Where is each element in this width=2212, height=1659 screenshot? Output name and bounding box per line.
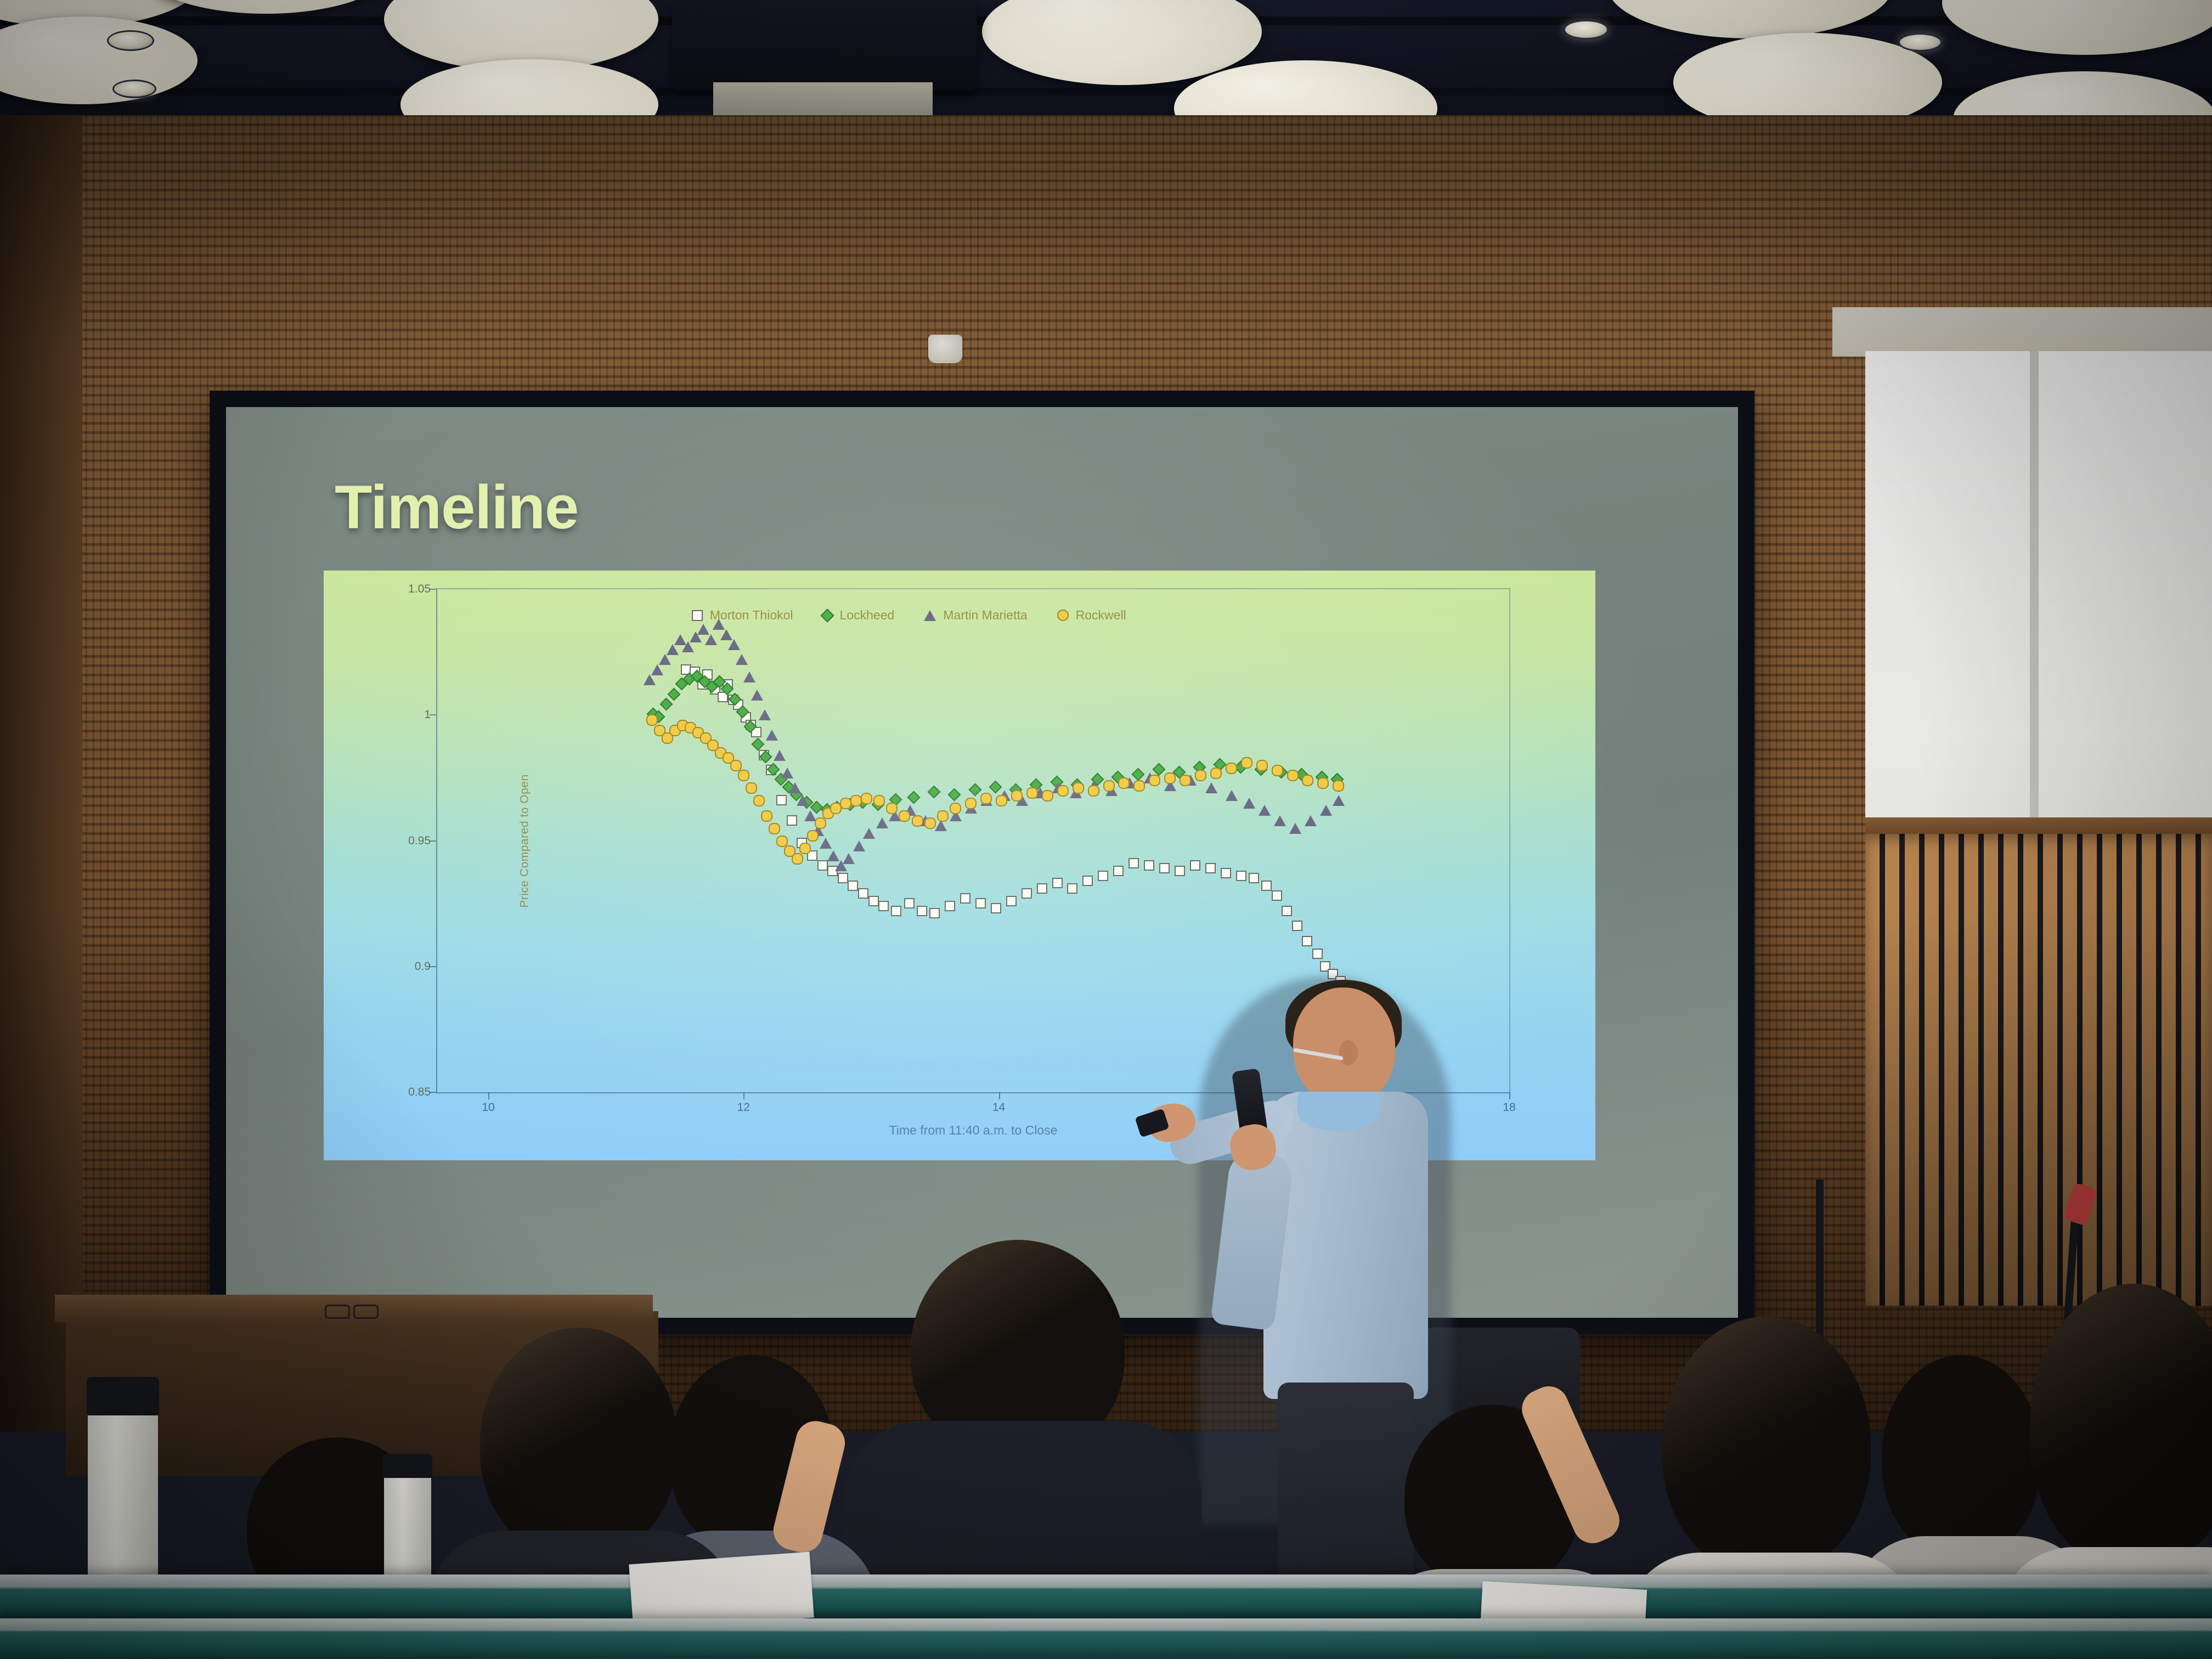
square-marker-icon — [692, 610, 703, 621]
data-point-martin-marietta — [728, 639, 740, 650]
data-point-lockheed — [907, 791, 920, 804]
data-point-morton-thiokol — [1006, 896, 1017, 906]
data-point-martin-marietta — [1333, 795, 1345, 806]
data-point-rockwell — [738, 770, 749, 781]
data-point-martin-marietta — [1226, 790, 1238, 801]
diamond-marker-icon — [821, 608, 834, 622]
data-point-martin-marietta — [1243, 798, 1255, 809]
audience-member — [878, 1240, 1163, 1547]
data-point-morton-thiokol — [1159, 863, 1170, 873]
circle-marker-icon — [1057, 610, 1069, 621]
data-point-rockwell — [769, 823, 780, 834]
data-point-rockwell — [776, 836, 788, 847]
data-point-morton-thiokol — [1302, 936, 1312, 946]
data-point-martin-marietta — [781, 768, 793, 778]
data-point-rockwell — [937, 810, 949, 822]
data-point-martin-marietta — [1274, 815, 1286, 826]
data-point-lockheed — [968, 783, 981, 796]
data-point-lockheed — [928, 786, 941, 799]
data-point-martin-marietta — [720, 629, 732, 640]
data-point-martin-marietta — [736, 654, 748, 665]
data-point-morton-thiokol — [1292, 921, 1302, 931]
data-point-martin-marietta — [804, 810, 816, 821]
data-point-martin-marietta — [789, 782, 801, 793]
data-point-martin-marietta — [743, 672, 755, 682]
data-point-morton-thiokol — [917, 906, 927, 916]
data-point-morton-thiokol — [868, 896, 879, 906]
data-point-rockwell — [1042, 790, 1053, 802]
data-point-martin-marietta — [667, 644, 679, 655]
x-axis-tick-label: 12 — [737, 1101, 750, 1114]
data-point-martin-marietta — [766, 730, 778, 741]
data-point-morton-thiokol — [848, 881, 858, 891]
presentation-slide: Timeline Morton ThiokolLockheedMartin Ma… — [226, 407, 1738, 1318]
data-point-lockheed — [659, 697, 673, 710]
data-point-morton-thiokol — [858, 888, 868, 899]
ceiling-disc — [1942, 0, 2212, 55]
x-axis-tick-mark — [488, 1092, 489, 1099]
x-axis-tick-mark — [999, 1092, 1000, 1099]
data-point-morton-thiokol — [1175, 866, 1185, 876]
y-axis-label: Price Compared to Open — [518, 774, 532, 907]
data-point-morton-thiokol — [975, 898, 986, 909]
data-point-morton-thiokol — [787, 815, 797, 826]
data-point-lockheed — [752, 738, 765, 751]
data-point-rockwell — [746, 782, 757, 794]
legend-item-rockwell: Rockwell — [1057, 608, 1126, 623]
data-point-morton-thiokol — [991, 903, 1001, 913]
data-point-morton-thiokol — [838, 873, 848, 883]
x-axis-tick-mark — [1509, 1092, 1510, 1099]
slide-title: Timeline — [335, 472, 578, 543]
data-point-martin-marietta — [1305, 815, 1317, 826]
data-point-morton-thiokol — [878, 901, 889, 911]
ceiling-disc — [1953, 71, 2212, 118]
triangle-marker-icon — [924, 610, 936, 621]
data-point-morton-thiokol — [1082, 876, 1093, 886]
data-point-martin-marietta — [1289, 823, 1301, 834]
data-point-martin-marietta — [697, 624, 709, 635]
chart-legend: Morton ThiokolLockheedMartin MariettaRoc… — [692, 608, 1126, 623]
data-point-rockwell — [1317, 777, 1329, 789]
data-point-rockwell — [1088, 785, 1099, 797]
data-point-rockwell — [815, 817, 826, 829]
presenter-collar — [1297, 1092, 1380, 1131]
data-point-rockwell — [1287, 770, 1299, 781]
eyeglasses-icon — [325, 1305, 379, 1317]
data-point-rockwell — [799, 843, 811, 854]
downlight-icon — [107, 30, 154, 51]
water-bottle-cap — [383, 1454, 432, 1478]
y-axis-tick-mark — [430, 966, 436, 967]
data-point-lockheed — [948, 788, 961, 801]
data-point-martin-marietta — [827, 850, 839, 861]
data-point-rockwell — [965, 798, 977, 809]
data-point-morton-thiokol — [1022, 888, 1032, 899]
wood-slat-panel — [1865, 834, 2212, 1306]
data-point-morton-thiokol — [960, 893, 970, 904]
data-point-martin-marietta — [1320, 805, 1332, 816]
desk-row-front — [0, 1618, 2212, 1659]
data-point-rockwell — [807, 830, 819, 842]
data-point-rockwell — [950, 803, 961, 814]
data-point-martin-marietta — [705, 634, 717, 645]
data-point-morton-thiokol — [1190, 860, 1200, 871]
data-point-martin-marietta — [935, 820, 947, 831]
data-point-martin-marietta — [774, 750, 786, 761]
data-point-martin-marietta — [759, 709, 771, 720]
ceiling-disc — [1607, 0, 1893, 38]
y-axis-tick-label: 0.9 — [415, 960, 431, 973]
data-point-lockheed — [667, 687, 680, 701]
data-point-morton-thiokol — [929, 908, 940, 918]
data-point-martin-marietta — [659, 654, 671, 665]
data-point-morton-thiokol — [1249, 873, 1259, 883]
data-point-rockwell — [730, 760, 742, 771]
data-point-rockwell — [753, 795, 765, 806]
x-axis-tick-label: 14 — [992, 1101, 1005, 1114]
data-point-martin-marietta — [820, 838, 832, 849]
water-bottle-cap — [87, 1377, 159, 1415]
data-point-martin-marietta — [682, 641, 694, 652]
projection-screen: Timeline Morton ThiokolLockheedMartin Ma… — [226, 407, 1738, 1318]
data-point-rockwell — [1057, 785, 1069, 797]
data-point-rockwell — [861, 793, 872, 804]
ceiling-projector — [672, 0, 977, 91]
data-point-martin-marietta — [876, 817, 888, 828]
data-point-rockwell — [1133, 780, 1145, 792]
data-point-rockwell — [1026, 787, 1038, 799]
downlight-icon — [1564, 20, 1609, 39]
y-axis-tick-mark — [430, 1092, 436, 1093]
hair-highlight — [480, 1328, 678, 1558]
x-axis-label: Time from 11:40 a.m. to Close — [889, 1123, 1058, 1138]
legend-item-martin-marietta: Martin Marietta — [924, 608, 1027, 623]
data-point-morton-thiokol — [1282, 906, 1292, 916]
data-point-morton-thiokol — [1052, 878, 1063, 888]
data-point-martin-marietta — [853, 840, 865, 851]
data-point-rockwell — [1149, 775, 1160, 786]
data-point-martin-marietta — [1205, 782, 1217, 793]
data-point-rockwell — [1180, 775, 1191, 786]
data-point-morton-thiokol — [1113, 866, 1124, 876]
data-point-morton-thiokol — [1205, 863, 1216, 873]
lecture-hall-photo: Timeline Morton ThiokolLockheedMartin Ma… — [0, 0, 2212, 1659]
data-point-rockwell — [1011, 790, 1023, 802]
hair-highlight — [2030, 1284, 2212, 1569]
legend-item-lockheed: Lockheed — [823, 608, 895, 623]
data-point-martin-marietta — [863, 828, 875, 839]
data-point-morton-thiokol — [891, 906, 901, 916]
data-point-rockwell — [886, 803, 898, 814]
data-point-martin-marietta — [644, 674, 656, 685]
data-point-rockwell — [1195, 770, 1206, 781]
data-point-rockwell — [1073, 782, 1084, 794]
y-axis-tick-label: 0.85 — [408, 1086, 431, 1099]
presenter-shirt — [1263, 1092, 1428, 1399]
projection-screen-frame: Timeline Morton ThiokolLockheedMartin Ma… — [210, 391, 1754, 1334]
downlight-icon — [1898, 33, 1942, 52]
data-point-rockwell — [1103, 780, 1115, 792]
data-point-rockwell — [1256, 760, 1268, 771]
data-point-morton-thiokol — [1144, 860, 1154, 871]
y-axis-tick-mark — [430, 840, 436, 842]
data-point-morton-thiokol — [904, 898, 915, 909]
data-point-rockwell — [792, 853, 803, 865]
presenter-ear — [1339, 1040, 1358, 1065]
window-soffit — [1832, 307, 2212, 357]
legend-label: Lockheed — [840, 608, 895, 623]
data-point-morton-thiokol — [1221, 868, 1231, 878]
data-point-martin-marietta — [797, 795, 809, 806]
data-point-morton-thiokol — [1312, 949, 1323, 959]
data-point-martin-marietta — [843, 853, 855, 864]
ceiling — [0, 0, 2212, 118]
wall-left-edge — [0, 115, 82, 1432]
x-axis-tick-mark — [743, 1092, 744, 1099]
legend-label: Rockwell — [1076, 608, 1126, 623]
desk-row — [0, 1575, 2212, 1618]
data-point-morton-thiokol — [1236, 871, 1246, 881]
legend-label: Martin Marietta — [943, 608, 1027, 623]
data-point-rockwell — [912, 815, 923, 827]
data-point-rockwell — [850, 795, 862, 806]
y-axis-tick-label: 1.05 — [408, 583, 431, 596]
legend-label: Morton Thiokol — [710, 608, 793, 623]
data-point-rockwell — [1333, 780, 1344, 792]
data-point-rockwell — [873, 795, 885, 806]
x-axis-tick-label: 10 — [482, 1101, 494, 1114]
data-point-morton-thiokol — [817, 860, 828, 871]
audience-shoulders — [845, 1421, 1201, 1585]
data-point-rockwell — [1118, 777, 1130, 789]
data-point-morton-thiokol — [1261, 881, 1272, 891]
data-point-morton-thiokol — [1037, 883, 1047, 894]
y-axis-tick-mark — [430, 589, 436, 590]
data-point-morton-thiokol — [1067, 883, 1077, 894]
data-point-rockwell — [980, 793, 992, 804]
data-point-rockwell — [1302, 775, 1313, 786]
data-point-rockwell — [1226, 763, 1237, 774]
data-point-morton-thiokol — [1272, 890, 1282, 901]
y-axis-tick-label: 0.95 — [408, 834, 431, 848]
hair-highlight — [1662, 1317, 1871, 1575]
downlight-icon — [112, 80, 156, 98]
data-point-morton-thiokol — [776, 795, 787, 805]
data-point-martin-marietta — [1259, 805, 1271, 816]
data-point-rockwell — [646, 714, 658, 726]
smoke-detector-icon — [928, 335, 962, 363]
data-point-morton-thiokol — [1128, 858, 1139, 868]
data-point-rockwell — [761, 810, 772, 822]
data-point-rockwell — [1272, 765, 1283, 776]
legend-item-morton-thiokol: Morton Thiokol — [692, 608, 793, 623]
data-point-rockwell — [1210, 768, 1222, 779]
data-point-morton-thiokol — [945, 901, 955, 911]
data-point-rockwell — [1241, 757, 1252, 769]
data-point-rockwell — [924, 817, 936, 829]
ceiling-disc — [400, 59, 658, 118]
data-point-martin-marietta — [651, 664, 663, 675]
y-axis-tick-mark — [430, 714, 436, 715]
data-point-morton-thiokol — [1098, 871, 1108, 881]
x-axis-tick-label: 18 — [1503, 1101, 1515, 1114]
data-point-martin-marietta — [751, 690, 763, 701]
data-point-rockwell — [899, 810, 910, 822]
data-point-rockwell — [1164, 772, 1176, 784]
data-point-rockwell — [996, 795, 1007, 806]
